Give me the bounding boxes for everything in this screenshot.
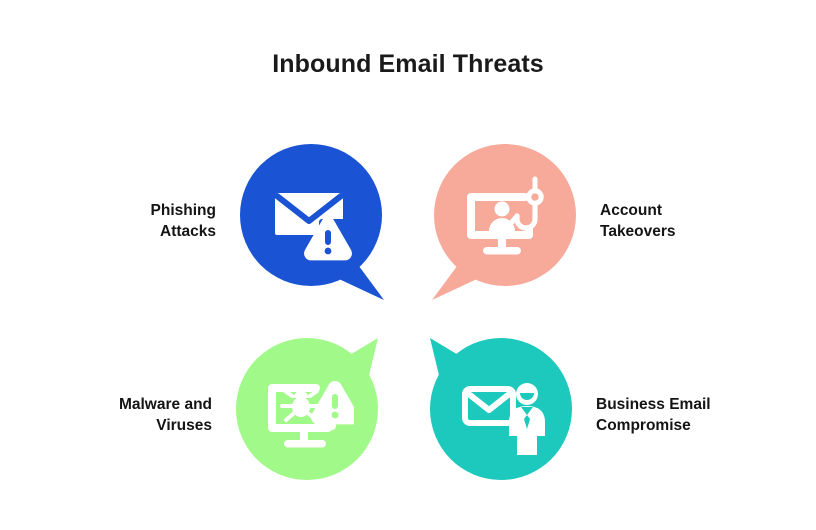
icon-envelope-warning: [240, 144, 382, 286]
label-line-1: Business Email: [596, 395, 754, 416]
icon-envelope-businessperson: [430, 338, 572, 480]
threat-item-account-takeovers[interactable]: Account Takeovers: [432, 142, 772, 302]
icon-monitor-person-fishing-hook: [434, 144, 576, 286]
speech-bubble-account-takeovers: [432, 142, 578, 302]
label-line-1: Account: [600, 201, 758, 222]
threat-label-malware-and-viruses: Malware and Viruses: [40, 395, 234, 437]
icon-monitor-bug-warning: [236, 338, 378, 480]
threat-label-business-email-compromise: Business Email Compromise: [574, 395, 768, 437]
label-line-2: Attacks: [58, 222, 216, 243]
diagram-canvas: Inbound Email Threats: [0, 0, 816, 530]
speech-bubble-business-email-compromise: [428, 336, 574, 496]
threat-label-account-takeovers: Account Takeovers: [578, 201, 772, 243]
page-title: Inbound Email Threats: [0, 50, 816, 79]
label-line-2: Takeovers: [600, 222, 758, 243]
label-line-2: Compromise: [596, 416, 754, 437]
label-line-1: Phishing: [58, 201, 216, 222]
threat-item-phishing-attacks[interactable]: Phishing Attacks: [44, 142, 384, 302]
label-line-2: Viruses: [54, 416, 212, 437]
label-line-1: Malware and: [54, 395, 212, 416]
threat-item-malware-and-viruses[interactable]: Malware and Viruses: [40, 336, 380, 496]
threat-label-phishing-attacks: Phishing Attacks: [44, 201, 238, 243]
speech-bubble-malware-and-viruses: [234, 336, 380, 496]
speech-bubble-phishing-attacks: [238, 142, 384, 302]
threat-item-business-email-compromise[interactable]: Business Email Compromise: [428, 336, 768, 496]
